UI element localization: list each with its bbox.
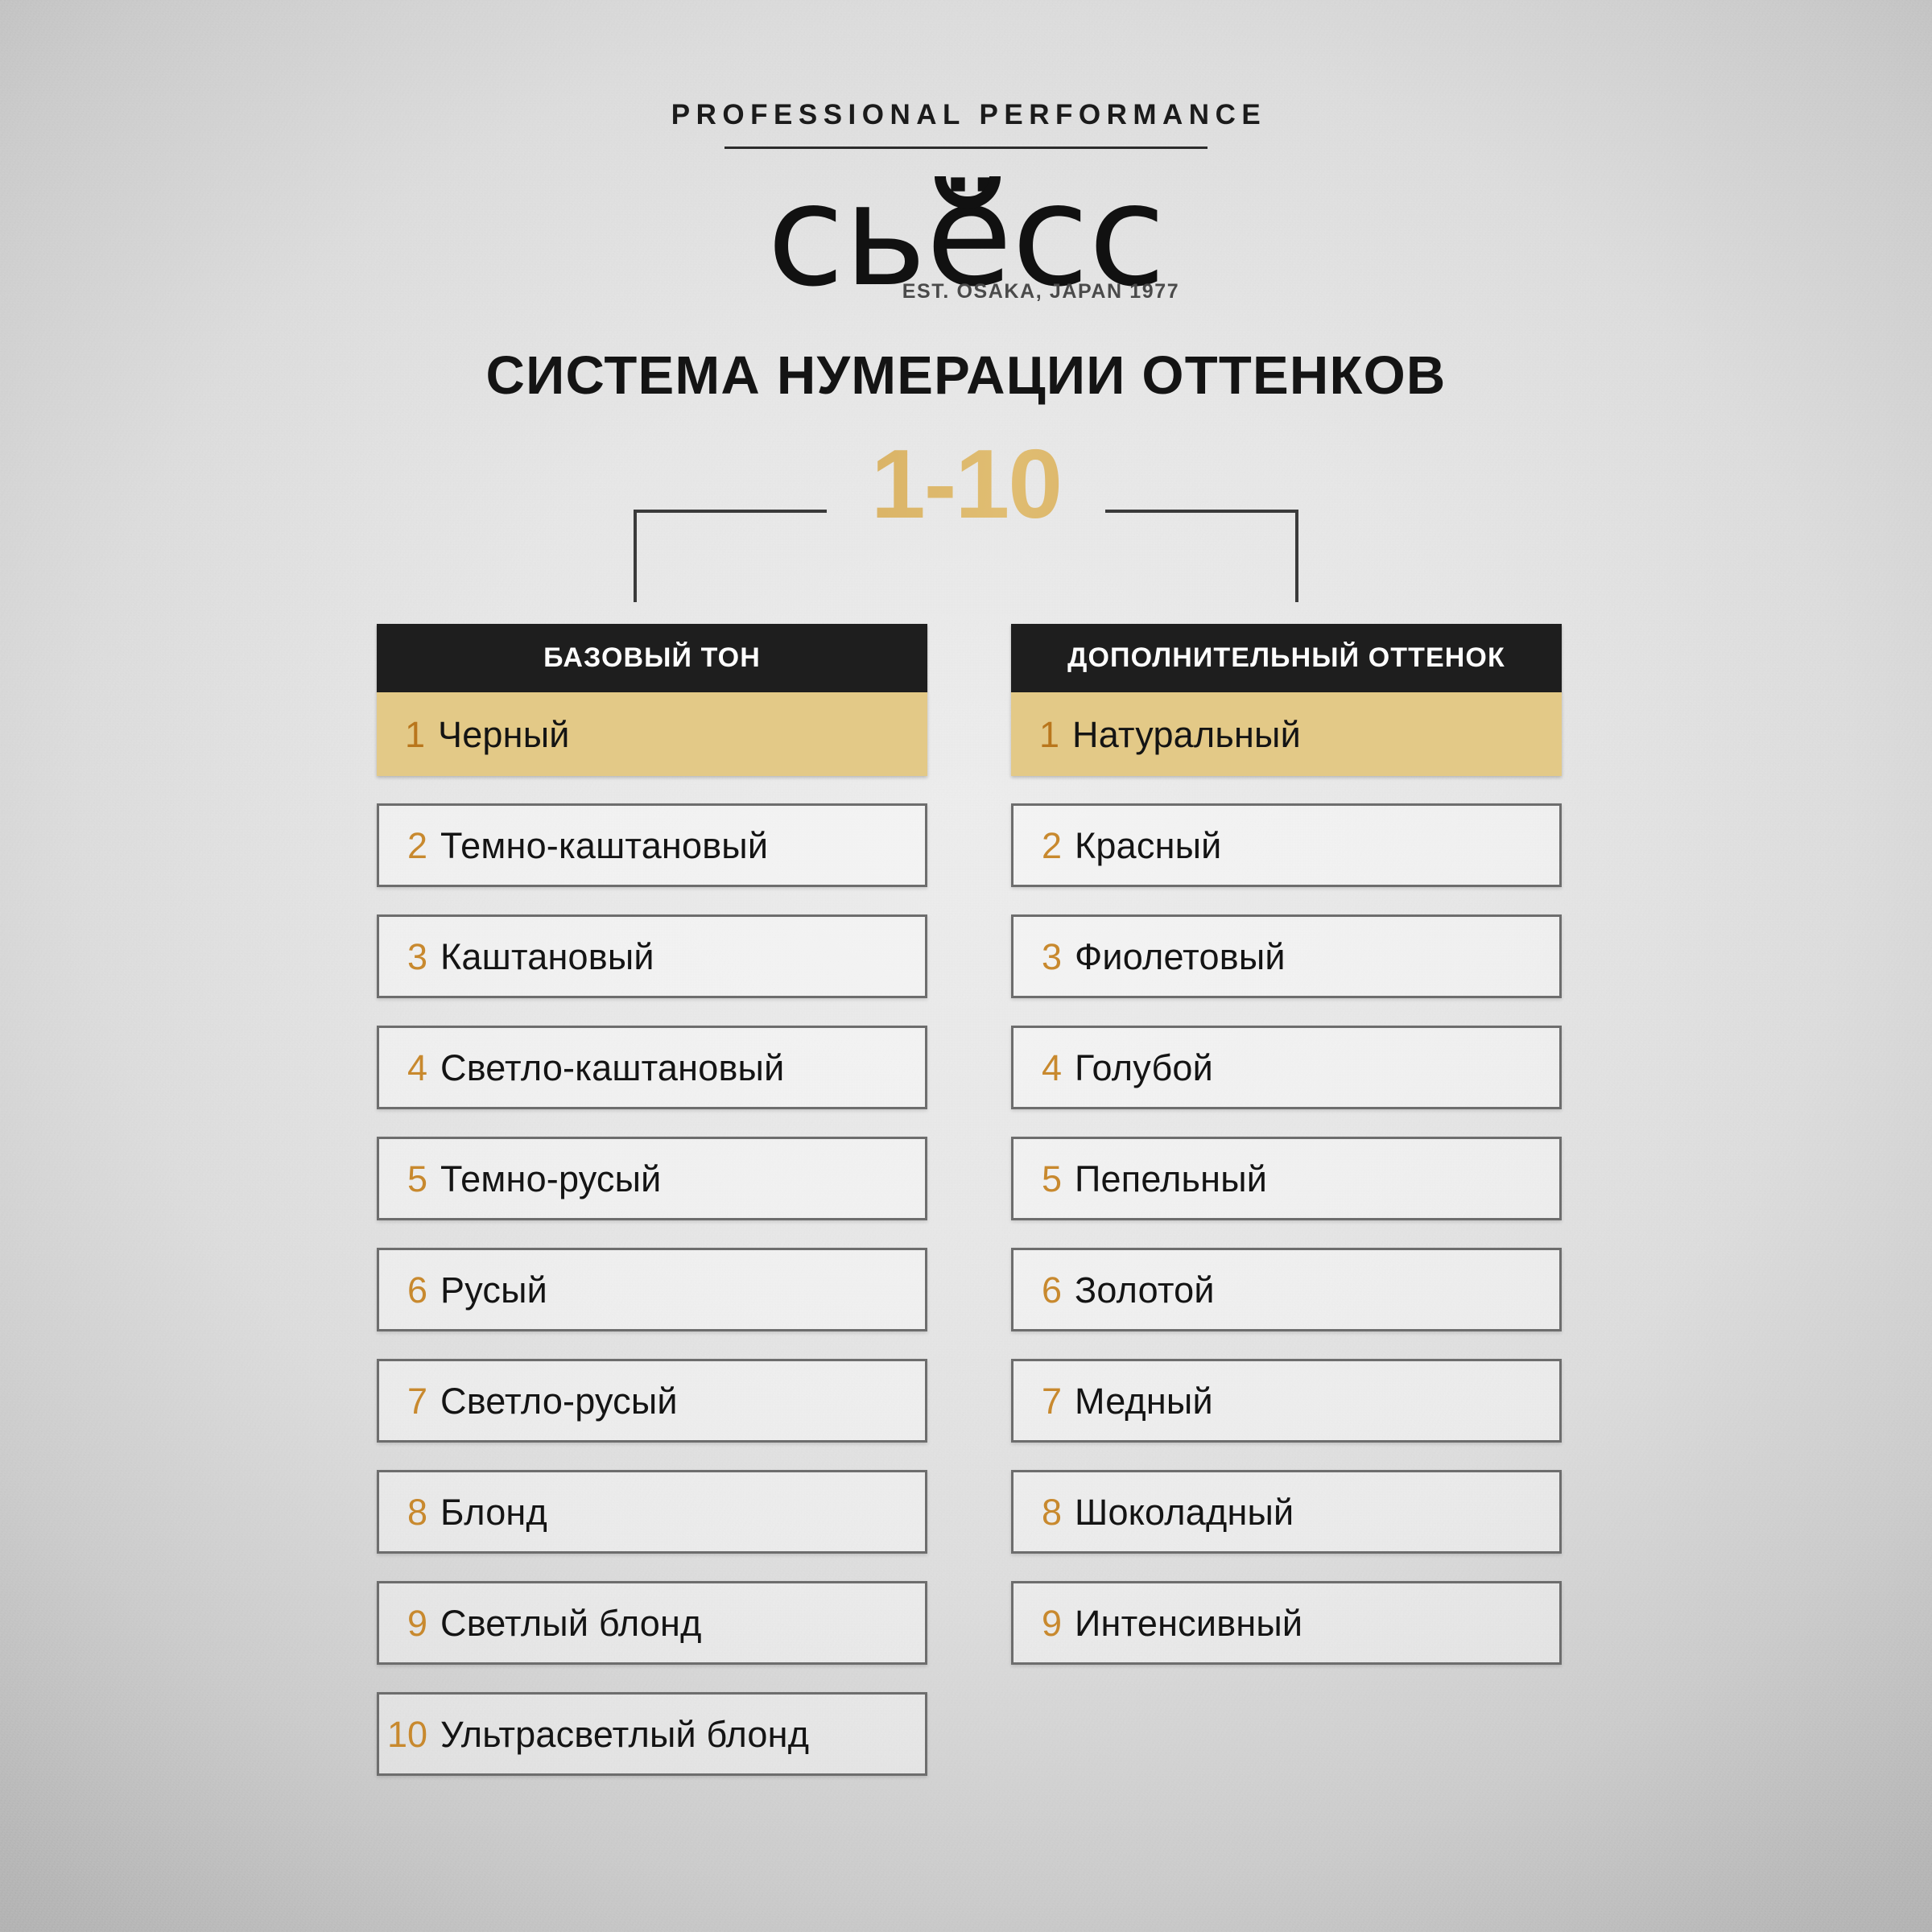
table-row[interactable]: 6 Золотой — [1011, 1248, 1562, 1331]
row-number: 4 — [379, 1050, 440, 1086]
row-number: 7 — [1013, 1383, 1075, 1419]
table-row[interactable]: 10 Ультрасветлый блонд — [377, 1692, 927, 1776]
table-row[interactable]: 1 Натуральный — [1011, 692, 1562, 776]
row-label: Светлый блонд — [440, 1605, 702, 1641]
row-number: 10 — [379, 1716, 440, 1752]
brand-established: EST. OSAKA, JAPAN 1977 — [0, 280, 1932, 303]
table-row[interactable]: 7 Светло-русый — [377, 1359, 927, 1443]
row-number: 7 — [379, 1383, 440, 1419]
row-label: Медный — [1075, 1383, 1213, 1419]
row-number: 2 — [1013, 828, 1075, 864]
row-label: Темно-каштановый — [440, 828, 768, 864]
column-base-tone: БАЗОВЫЙ ТОН 1 Черный 2 Темно-каштановый … — [377, 624, 927, 1776]
row-number: 5 — [379, 1161, 440, 1197]
table-row[interactable]: 2 Красный — [1011, 803, 1562, 887]
row-number: 4 — [1013, 1050, 1075, 1086]
table-row[interactable]: 1 Черный — [377, 692, 927, 776]
table-row[interactable]: 3 Фиолетовый — [1011, 914, 1562, 998]
row-number: 5 — [1013, 1161, 1075, 1197]
row-number: 8 — [1013, 1494, 1075, 1530]
shade-columns: БАЗОВЫЙ ТОН 1 Черный 2 Темно-каштановый … — [377, 624, 1562, 1776]
table-row[interactable]: 8 Шоколадный — [1011, 1470, 1562, 1554]
row-number: 3 — [379, 939, 440, 975]
row-number: 1 — [377, 716, 438, 753]
table-row[interactable]: 3 Каштановый — [377, 914, 927, 998]
bracket-connector-right — [1105, 510, 1298, 602]
row-label: Фиолетовый — [1075, 939, 1286, 975]
brand-divider — [724, 147, 1207, 149]
table-row[interactable]: 9 Светлый блонд — [377, 1581, 927, 1665]
row-number: 9 — [1013, 1605, 1075, 1641]
table-row[interactable]: 6 Русый — [377, 1248, 927, 1331]
table-row[interactable]: 4 Голубой — [1011, 1026, 1562, 1109]
row-label: Каштановый — [440, 939, 654, 975]
table-row[interactable]: 5 Пепельный — [1011, 1137, 1562, 1220]
shade-range-value: 1-10 — [0, 435, 1932, 533]
table-row[interactable]: 9 Интенсивный — [1011, 1581, 1562, 1665]
column-header-base-tone: БАЗОВЫЙ ТОН — [377, 624, 927, 692]
row-number: 6 — [1013, 1272, 1075, 1308]
table-row[interactable]: 2 Темно-каштановый — [377, 803, 927, 887]
row-label: Голубой — [1075, 1050, 1213, 1086]
brand-kicker: PROFESSIONAL PERFORMANCE — [0, 101, 1932, 129]
row-number: 2 — [379, 828, 440, 864]
row-list-additional-shade: 1 Натуральный 2 Красный 3 Фиолетовый 4 Г… — [1011, 692, 1562, 1665]
table-row[interactable]: 4 Светло-каштановый — [377, 1026, 927, 1109]
row-number: 8 — [379, 1494, 440, 1530]
row-number: 3 — [1013, 939, 1075, 975]
row-label: Ультрасветлый блонд — [440, 1716, 809, 1752]
table-row[interactable]: 5 Темно-русый — [377, 1137, 927, 1220]
table-row[interactable]: 7 Медный — [1011, 1359, 1562, 1443]
row-label: Светло-каштановый — [440, 1050, 784, 1086]
column-header-additional-shade: ДОПОЛНИТЕЛЬНЫЙ ОТТЕНОК — [1011, 624, 1562, 692]
page-title: СИСТЕМА НУМЕРАЦИИ ОТТЕНКОВ — [0, 345, 1932, 407]
row-label: Блонд — [440, 1494, 547, 1530]
row-label: Натуральный — [1072, 716, 1301, 753]
column-additional-shade: ДОПОЛНИТЕЛЬНЫЙ ОТТЕНОК 1 Натуральный 2 К… — [1011, 624, 1562, 1776]
row-list-base-tone: 1 Черный 2 Темно-каштановый 3 Каштановый… — [377, 692, 927, 1776]
bracket-connector-left — [634, 510, 827, 602]
row-number: 6 — [379, 1272, 440, 1308]
table-row[interactable]: 8 Блонд — [377, 1470, 927, 1554]
row-label: Пепельный — [1075, 1161, 1267, 1197]
infographic-page: PROFESSIONAL PERFORMANCE сьёсс EST. OSAK… — [0, 0, 1932, 1932]
row-label: Золотой — [1075, 1272, 1215, 1308]
row-label: Светло-русый — [440, 1383, 678, 1419]
row-number: 1 — [1011, 716, 1072, 753]
row-label: Шоколадный — [1075, 1494, 1294, 1530]
row-label: Русый — [440, 1272, 547, 1308]
row-label: Красный — [1075, 828, 1222, 864]
row-number: 9 — [379, 1605, 440, 1641]
row-label: Интенсивный — [1075, 1605, 1302, 1641]
row-label: Темно-русый — [440, 1161, 662, 1197]
row-label: Черный — [438, 716, 570, 753]
